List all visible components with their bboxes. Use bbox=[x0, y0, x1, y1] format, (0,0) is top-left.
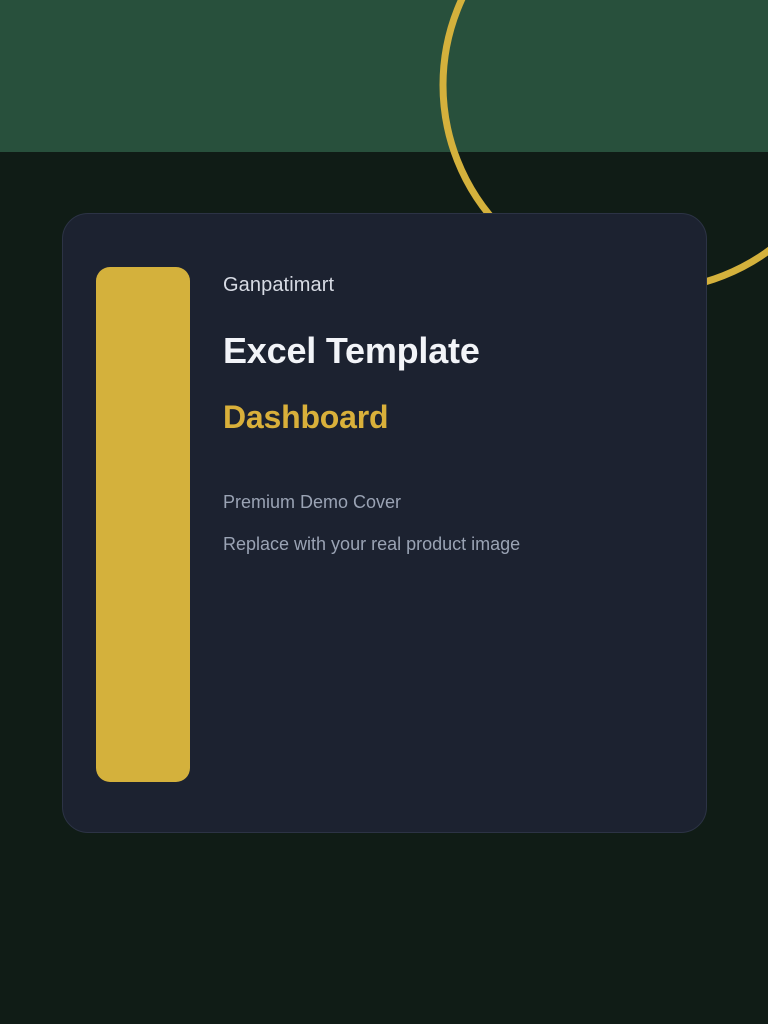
card-text-block: Ganpatimart Excel Template Dashboard Pre… bbox=[190, 214, 706, 556]
cover-stage: Ganpatimart Excel Template Dashboard Pre… bbox=[0, 0, 768, 1024]
header-band bbox=[0, 0, 768, 152]
brand-name: Ganpatimart bbox=[223, 272, 676, 298]
caption-primary: Premium Demo Cover bbox=[223, 490, 676, 514]
caption-secondary: Replace with your real product image bbox=[223, 532, 676, 556]
cover-card: Ganpatimart Excel Template Dashboard Pre… bbox=[62, 213, 707, 833]
product-thumbnail-placeholder[interactable] bbox=[96, 267, 190, 782]
page-subtitle: Dashboard bbox=[223, 398, 676, 436]
page-title: Excel Template bbox=[223, 330, 676, 372]
